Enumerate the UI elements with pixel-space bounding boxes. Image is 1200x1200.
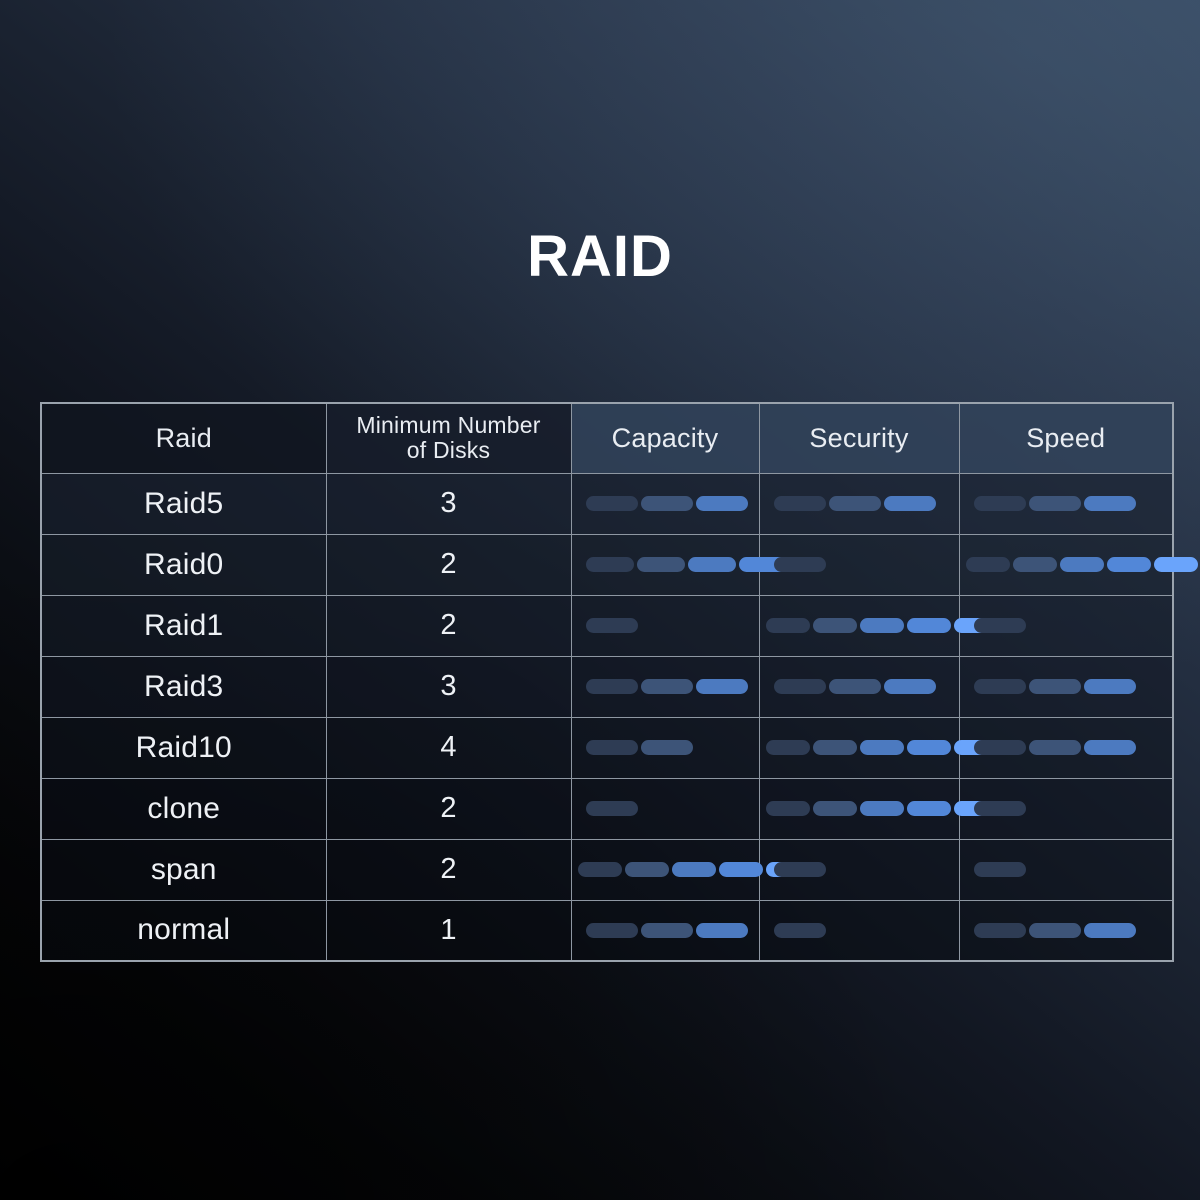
- table-body: Raid53Raid02Raid12Raid33Raid104clone2spa…: [41, 473, 1173, 961]
- table-row: Raid33: [41, 656, 1173, 717]
- min-disks-value: 2: [326, 778, 571, 839]
- rating-segment: [1084, 496, 1136, 511]
- capacity-rating-bar-cell: [571, 900, 759, 961]
- speed-rating-bar-cell: [959, 900, 1173, 961]
- rating-segment: [774, 679, 826, 694]
- rating-segment: [907, 801, 951, 816]
- rating-segment: [884, 496, 936, 511]
- capacity-rating-bar-cell: [571, 656, 759, 717]
- column-header-speed: Speed: [959, 403, 1173, 473]
- security-rating-bar-cell: [759, 900, 959, 961]
- security-rating-bar: [760, 679, 959, 694]
- security-rating-bar-cell: [759, 534, 959, 595]
- rating-segment: [696, 679, 748, 694]
- column-header-raid: Raid: [41, 403, 326, 473]
- rating-segment: [586, 496, 638, 511]
- min-disks-value: 2: [326, 595, 571, 656]
- rating-segment: [1084, 923, 1136, 938]
- rating-segment: [974, 862, 1026, 877]
- capacity-rating-bar-cell: [571, 534, 759, 595]
- rating-segment: [641, 923, 693, 938]
- rating-segment: [688, 557, 736, 572]
- rating-segment: [813, 618, 857, 633]
- security-rating-bar: [760, 557, 959, 572]
- speed-rating-bar-cell: [959, 778, 1173, 839]
- rating-segment: [860, 801, 904, 816]
- capacity-rating-bar-cell: [571, 839, 759, 900]
- page-title: RAID: [0, 228, 1200, 286]
- rating-segment: [907, 740, 951, 755]
- raid-level-label: Raid10: [41, 717, 326, 778]
- rating-segment: [1084, 740, 1136, 755]
- rating-segment: [829, 679, 881, 694]
- rating-segment: [766, 740, 810, 755]
- table-row: clone2: [41, 778, 1173, 839]
- min-disks-value: 3: [326, 656, 571, 717]
- speed-rating-bar-cell: [959, 595, 1173, 656]
- raid-level-label: normal: [41, 900, 326, 961]
- capacity-rating-bar: [572, 740, 759, 755]
- rating-segment: [1029, 923, 1081, 938]
- security-rating-bar: [760, 496, 959, 511]
- rating-segment: [696, 923, 748, 938]
- rating-segment: [641, 679, 693, 694]
- rating-segment: [586, 679, 638, 694]
- capacity-rating-bar: [572, 801, 759, 816]
- rating-segment: [974, 618, 1026, 633]
- raid-level-label: span: [41, 839, 326, 900]
- rating-segment: [641, 740, 693, 755]
- security-rating-bar: [760, 923, 959, 938]
- rating-segment: [884, 679, 936, 694]
- table-row: Raid104: [41, 717, 1173, 778]
- rating-segment: [974, 801, 1026, 816]
- security-rating-bar-cell: [759, 839, 959, 900]
- capacity-rating-bar-cell: [571, 595, 759, 656]
- min-disks-value: 2: [326, 534, 571, 595]
- rating-segment: [766, 801, 810, 816]
- security-rating-bar-cell: [759, 717, 959, 778]
- security-rating-bar-cell: [759, 473, 959, 534]
- speed-rating-bar: [960, 740, 1173, 755]
- table-header-row: Raid Minimum Number of Disks Capacity Se…: [41, 403, 1173, 473]
- rating-segment: [625, 862, 669, 877]
- table-row: span2: [41, 839, 1173, 900]
- speed-rating-bar: [960, 557, 1173, 572]
- rating-segment: [774, 557, 826, 572]
- rating-segment: [586, 801, 638, 816]
- min-disks-value: 1: [326, 900, 571, 961]
- rating-segment: [578, 862, 622, 877]
- rating-segment: [974, 679, 1026, 694]
- speed-rating-bar-cell: [959, 656, 1173, 717]
- rating-segment: [1029, 740, 1081, 755]
- raid-level-label: Raid3: [41, 656, 326, 717]
- speed-rating-bar: [960, 618, 1173, 633]
- security-rating-bar: [760, 862, 959, 877]
- rating-segment: [1013, 557, 1057, 572]
- min-disks-value: 2: [326, 839, 571, 900]
- security-rating-bar: [760, 618, 959, 633]
- rating-segment: [586, 740, 638, 755]
- rating-segment: [1107, 557, 1151, 572]
- rating-segment: [719, 862, 763, 877]
- speed-rating-bar: [960, 862, 1173, 877]
- capacity-rating-bar-cell: [571, 778, 759, 839]
- table-row: Raid53: [41, 473, 1173, 534]
- rating-segment: [586, 618, 638, 633]
- rating-segment: [1084, 679, 1136, 694]
- rating-segment: [813, 801, 857, 816]
- speed-rating-bar: [960, 679, 1173, 694]
- rating-segment: [637, 557, 685, 572]
- min-disks-line-1: Minimum Number: [356, 412, 540, 438]
- security-rating-bar-cell: [759, 595, 959, 656]
- rating-segment: [1029, 679, 1081, 694]
- rating-segment: [1154, 557, 1198, 572]
- raid-level-label: Raid1: [41, 595, 326, 656]
- rating-segment: [860, 618, 904, 633]
- capacity-rating-bar: [572, 618, 759, 633]
- rating-segment: [860, 740, 904, 755]
- speed-rating-bar: [960, 923, 1173, 938]
- speed-rating-bar: [960, 801, 1173, 816]
- column-header-capacity: Capacity: [571, 403, 759, 473]
- min-disks-value: 3: [326, 473, 571, 534]
- table-row: Raid12: [41, 595, 1173, 656]
- rating-segment: [766, 618, 810, 633]
- raid-level-label: clone: [41, 778, 326, 839]
- rating-segment: [813, 740, 857, 755]
- rating-segment: [696, 496, 748, 511]
- slide-stage: RAID Raid Minimum Number of Disks Capaci…: [0, 0, 1200, 1200]
- capacity-rating-bar-cell: [571, 473, 759, 534]
- speed-rating-bar-cell: [959, 839, 1173, 900]
- rating-segment: [1060, 557, 1104, 572]
- speed-rating-bar-cell: [959, 534, 1173, 595]
- rating-segment: [672, 862, 716, 877]
- rating-segment: [966, 557, 1010, 572]
- table-row: Raid02: [41, 534, 1173, 595]
- security-rating-bar: [760, 801, 959, 816]
- rating-segment: [907, 618, 951, 633]
- speed-rating-bar-cell: [959, 717, 1173, 778]
- security-rating-bar-cell: [759, 778, 959, 839]
- rating-segment: [974, 496, 1026, 511]
- capacity-rating-bar: [572, 496, 759, 511]
- capacity-rating-bar: [572, 557, 759, 572]
- raid-level-label: Raid5: [41, 473, 326, 534]
- security-rating-bar-cell: [759, 656, 959, 717]
- capacity-rating-bar: [572, 923, 759, 938]
- table-row: normal1: [41, 900, 1173, 961]
- column-header-min-disks: Minimum Number of Disks: [326, 403, 571, 473]
- security-rating-bar: [760, 740, 959, 755]
- rating-segment: [586, 923, 638, 938]
- rating-segment: [829, 496, 881, 511]
- capacity-rating-bar: [572, 679, 759, 694]
- speed-rating-bar: [960, 496, 1173, 511]
- column-header-security: Security: [759, 403, 959, 473]
- rating-segment: [1029, 496, 1081, 511]
- rating-segment: [641, 496, 693, 511]
- raid-level-label: Raid0: [41, 534, 326, 595]
- rating-segment: [774, 862, 826, 877]
- min-disks-line-2: of Disks: [407, 437, 490, 463]
- rating-segment: [974, 740, 1026, 755]
- speed-rating-bar-cell: [959, 473, 1173, 534]
- rating-segment: [974, 923, 1026, 938]
- rating-segment: [774, 923, 826, 938]
- capacity-rating-bar-cell: [571, 717, 759, 778]
- raid-comparison-table: Raid Minimum Number of Disks Capacity Se…: [40, 402, 1172, 962]
- capacity-rating-bar: [572, 862, 759, 877]
- rating-segment: [586, 557, 634, 572]
- min-disks-value: 4: [326, 717, 571, 778]
- rating-segment: [774, 496, 826, 511]
